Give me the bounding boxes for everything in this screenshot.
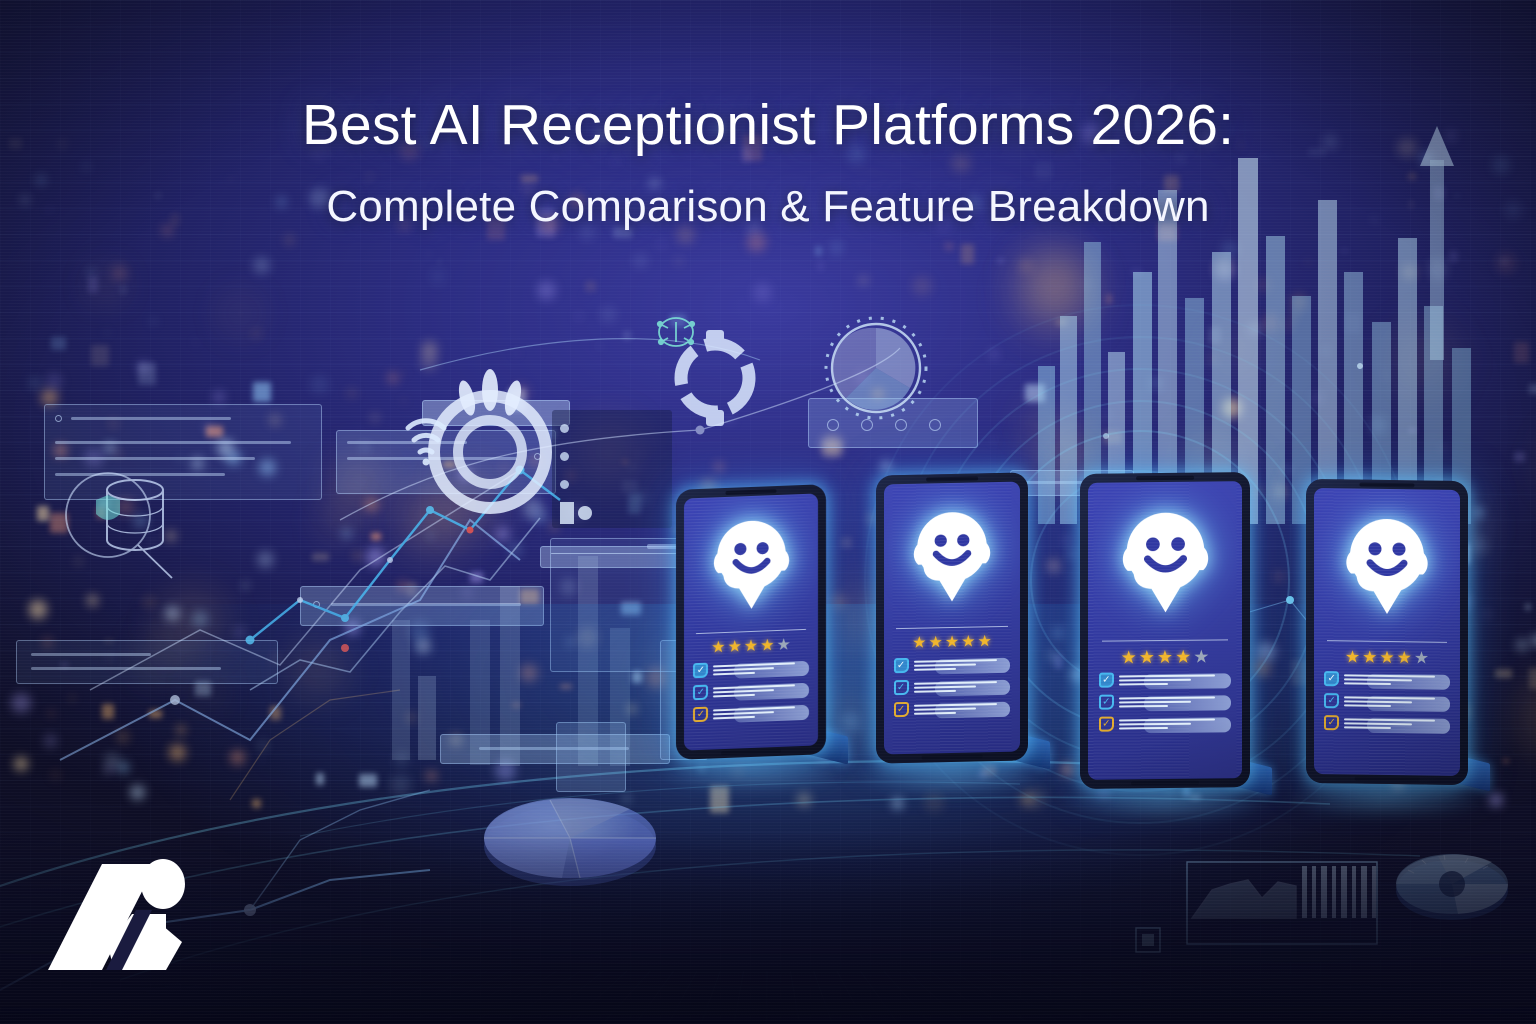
page-title: Best AI Receptionist Platforms 2026: — [0, 92, 1536, 158]
hero-banner: ★★★★★✓✓✓★★★★★✓✓✓★★★★★✓✓✓★★★★★✓✓✓ Best AI… — [0, 0, 1536, 1024]
ai-monogram-logo — [44, 858, 194, 976]
page-subtitle: Complete Comparison & Feature Breakdown — [0, 182, 1536, 232]
title-block: Best AI Receptionist Platforms 2026: Com… — [0, 92, 1536, 232]
logo-dot — [141, 859, 185, 909]
